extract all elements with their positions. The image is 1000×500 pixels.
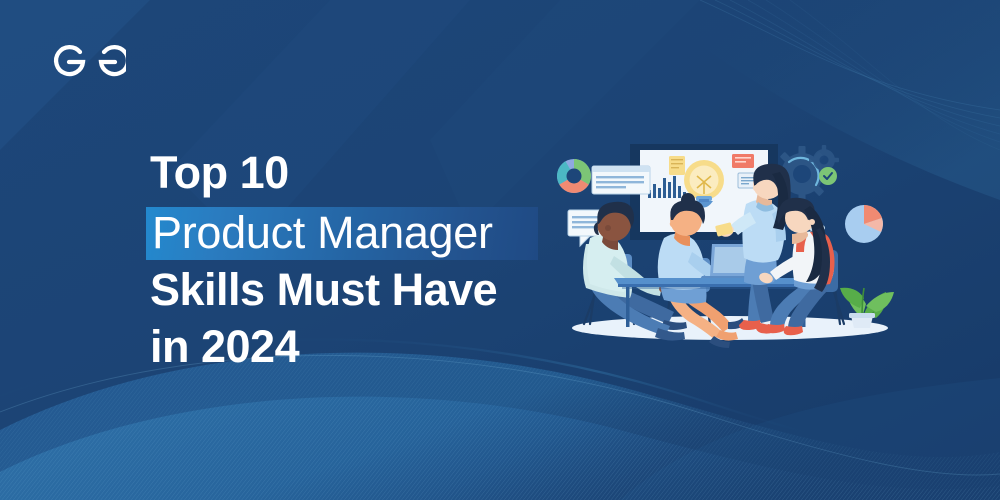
donut-chart (557, 159, 591, 193)
team-meeting-illustration (552, 132, 912, 372)
notification-card (592, 166, 650, 194)
headline-line-3: Skills Must Have (150, 265, 580, 322)
check-badge (819, 167, 837, 185)
headline-line-3-text: Skills Must Have (150, 267, 497, 312)
banner-image: Top 10 Product Manager Skills Must Have … (0, 0, 1000, 500)
headline-line-4-text: in 2024 (150, 324, 299, 369)
sticky-note-red (732, 154, 754, 168)
geeksforgeeks-logo[interactable] (44, 36, 126, 80)
headline: Top 10 Product Manager Skills Must Have … (150, 148, 580, 379)
sticky-note-yellow (669, 156, 685, 175)
headline-line-2: Product Manager (150, 207, 580, 264)
headline-line-1: Top 10 (150, 148, 580, 205)
pie-chart (845, 205, 883, 243)
headline-line-4: in 2024 (150, 322, 580, 379)
headline-line-1-text: Top 10 (150, 150, 289, 195)
headline-line-2-text: Product Manager (152, 210, 493, 255)
